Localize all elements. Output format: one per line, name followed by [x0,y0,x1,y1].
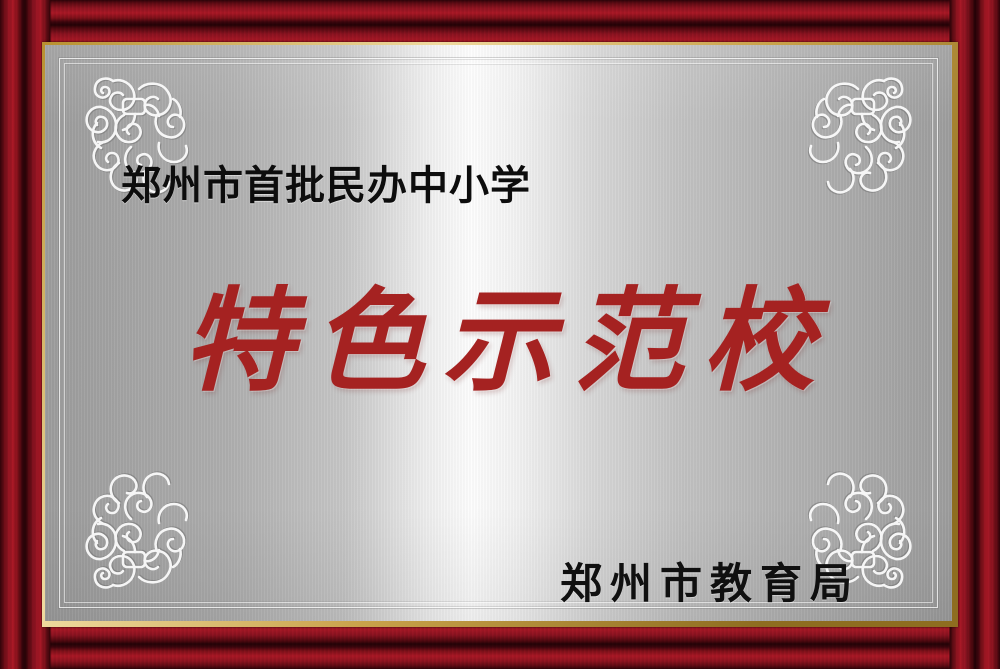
plaque-title-text: 特色示范校 [45,283,952,401]
cloud-ornament-top-right-icon [786,59,936,209]
plaque-issuer-text: 郑州市教育局 [552,550,860,611]
plaque-heading-text: 郑州市首批民办中小学 [121,153,531,211]
award-plaque: 郑州市首批民办中小学 特色示范校 郑州市教育局 [0,0,1000,669]
silver-plate: 郑州市首批民办中小学 特色示范校 郑州市教育局 [45,45,952,621]
cloud-ornament-bottom-left-icon [61,457,211,607]
